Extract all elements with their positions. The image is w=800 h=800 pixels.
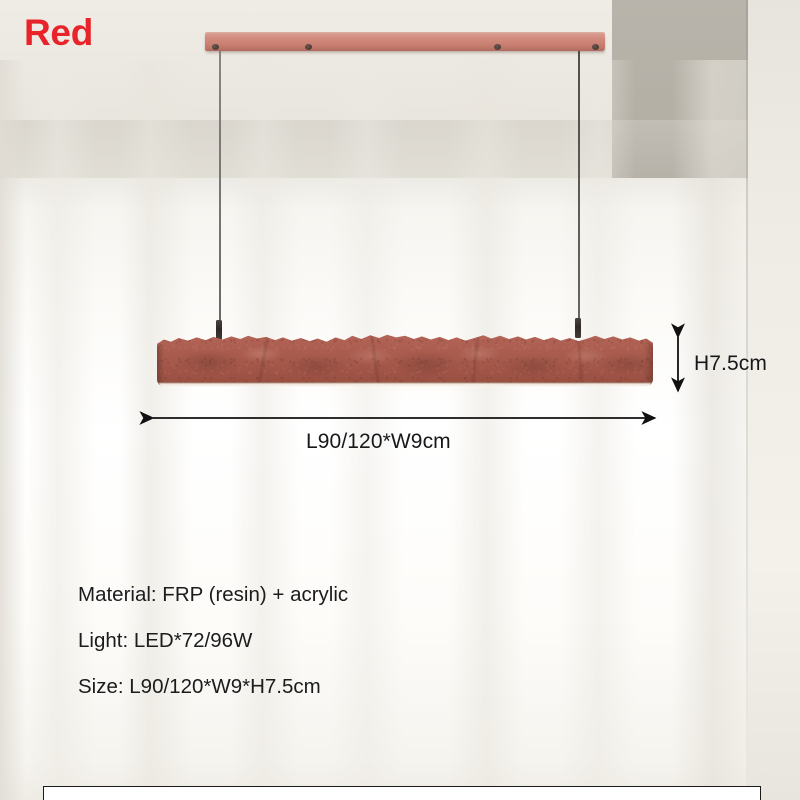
height-dimension-label: H7.5cm	[694, 352, 767, 376]
color-variant-label: Red	[24, 12, 93, 54]
width-dimension-label: L90/120*W9cm	[306, 430, 451, 454]
product-image: L90/120*W9cm H7.5cm Red Material: FRP (r…	[0, 0, 800, 800]
spec-light: Light: LED*72/96W	[78, 629, 348, 653]
specification-list: Material: FRP (resin) + acrylic Light: L…	[78, 583, 348, 699]
bottom-frame-rule	[43, 786, 761, 800]
spec-material: Material: FRP (resin) + acrylic	[78, 583, 348, 607]
spec-size: Size: L90/120*W9*H7.5cm	[78, 675, 348, 699]
